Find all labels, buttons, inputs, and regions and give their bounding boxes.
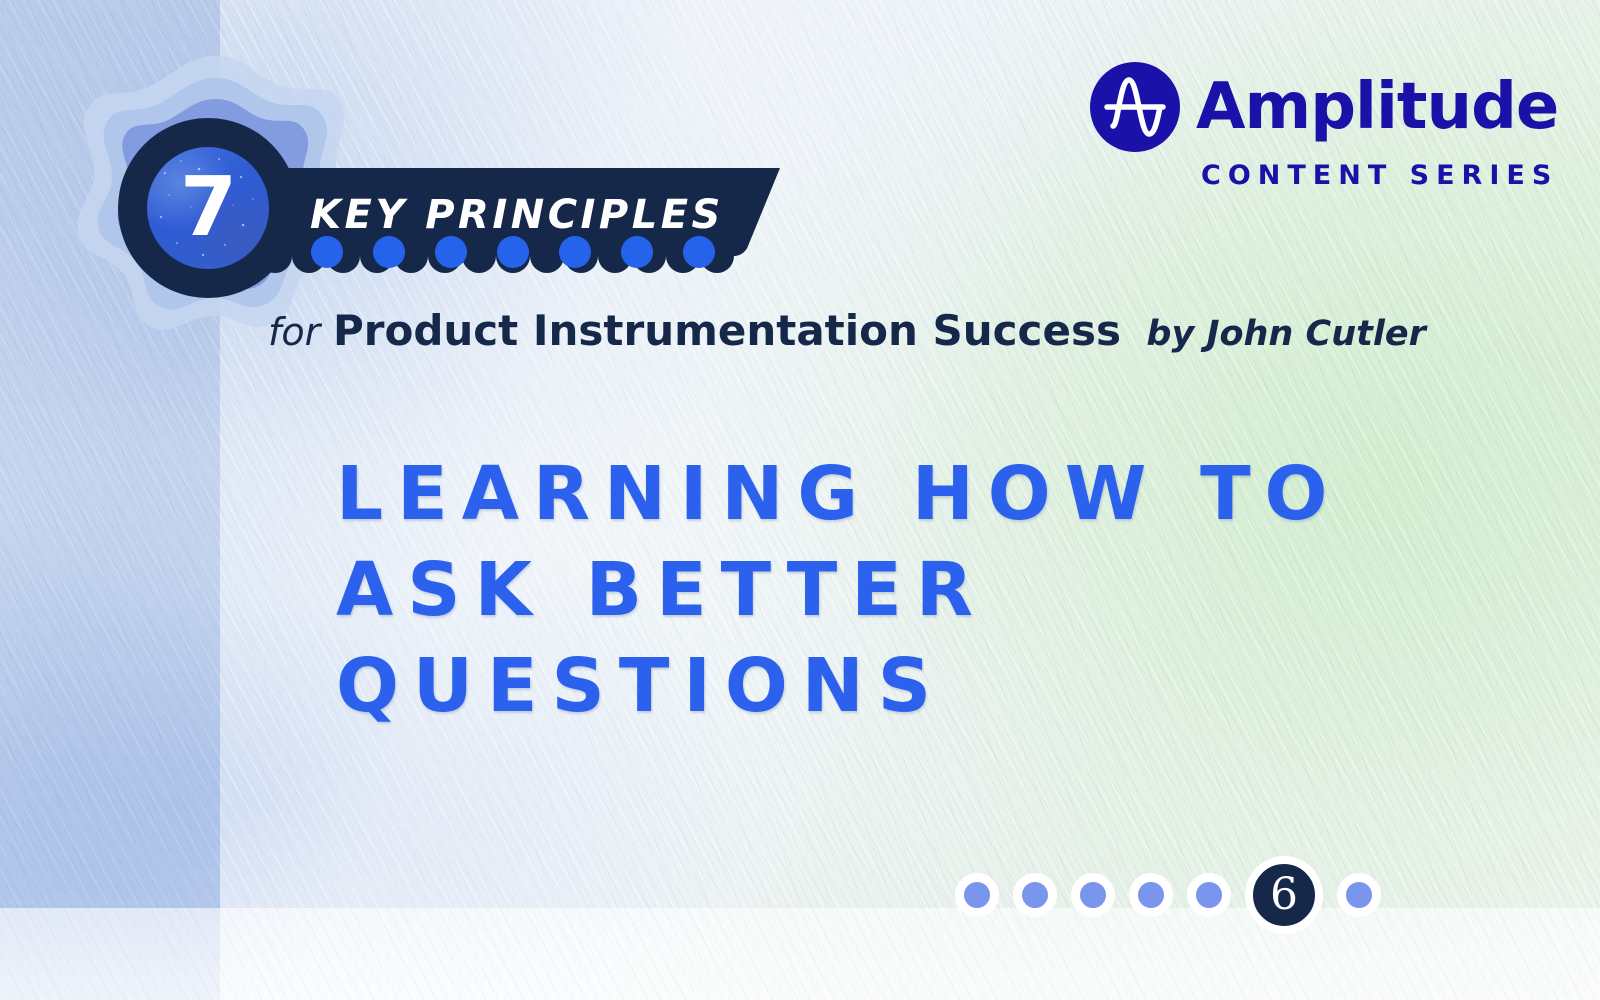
pagination-dot-2[interactable] bbox=[1013, 873, 1057, 917]
pagination-dot-7[interactable] bbox=[1337, 873, 1381, 917]
amplitude-logo: Amplitude CONTENT SERIES bbox=[1090, 62, 1558, 191]
headline-line-1: LEARNING HOW TO bbox=[336, 446, 1516, 542]
amplitude-sine-wave-logo-icon bbox=[1090, 62, 1180, 152]
principle-count-badge: 7 bbox=[118, 118, 298, 298]
badge-number: 7 bbox=[147, 167, 269, 249]
subtitle-line: for Product Instrumentation Success by J… bbox=[268, 310, 1426, 352]
pagination-dot-4[interactable] bbox=[1129, 873, 1173, 917]
badge-inner-circle: 7 bbox=[147, 147, 269, 269]
pagination-dot-5[interactable] bbox=[1187, 873, 1231, 917]
pagination[interactable]: 6 bbox=[955, 856, 1381, 934]
pagination-dot-6-active[interactable]: 6 bbox=[1245, 856, 1323, 934]
subtitle-byline: by John Cutler bbox=[1146, 314, 1425, 354]
slide-canvas: KEY PRINCIPLES bbox=[0, 0, 1600, 1000]
banner-label: KEY PRINCIPLES bbox=[310, 192, 724, 238]
headline-line-3: QUESTIONS bbox=[336, 638, 1516, 734]
amplitude-wordmark: Amplitude bbox=[1196, 75, 1558, 139]
pagination-dot-3[interactable] bbox=[1071, 873, 1115, 917]
headline-line-2: ASK BETTER bbox=[336, 542, 1516, 638]
subtitle-lead: for bbox=[268, 310, 320, 354]
pagination-dot-1[interactable] bbox=[955, 873, 999, 917]
content-series-label: CONTENT SERIES bbox=[1090, 160, 1558, 191]
page-title: LEARNING HOW TO ASK BETTER QUESTIONS bbox=[336, 446, 1516, 734]
subtitle-main: Product Instrumentation Success bbox=[333, 306, 1121, 355]
